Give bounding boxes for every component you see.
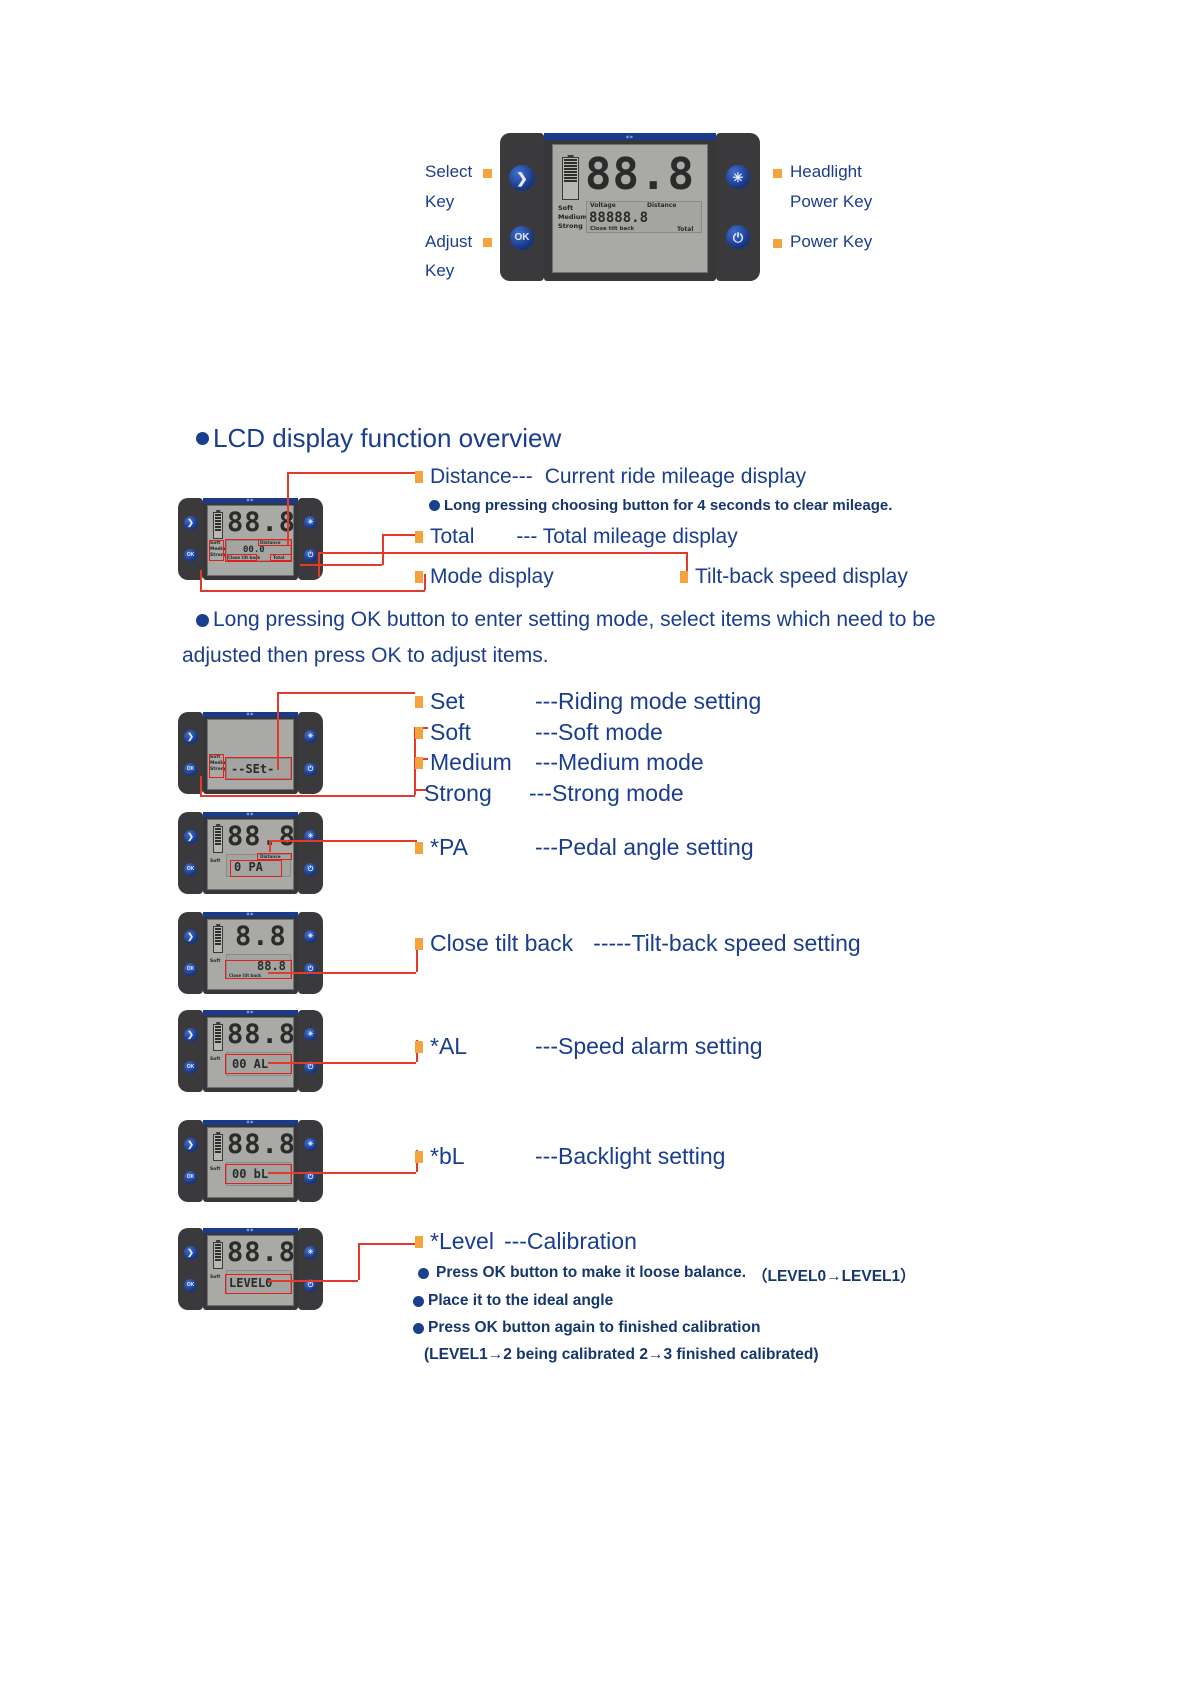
leader-tiltback-v1 bbox=[318, 552, 320, 577]
battery-icon bbox=[213, 1242, 223, 1269]
bullet-icon bbox=[415, 1041, 423, 1053]
annotation-term: Set bbox=[430, 688, 535, 715]
calibration-footer-text: (LEVEL1→2 being calibrated 2→3 finished … bbox=[424, 1346, 819, 1364]
hero-label-power-key-bottom: Power Key bbox=[790, 232, 872, 252]
mode-column: Soft bbox=[210, 959, 220, 965]
section-title-lcd-overview: LCD display function overview bbox=[196, 423, 561, 454]
power-key-button[interactable]: ⏻ bbox=[726, 225, 750, 249]
mode-column: Soft bbox=[210, 1167, 220, 1173]
level-device: ❯ OK ◉▶ 88.8 Soft LEVEL0 ✳ ⏻ bbox=[178, 1228, 323, 1310]
bullet-icon bbox=[413, 1323, 424, 1334]
lcd-screen: 88.8 Soft 00 bL bbox=[207, 1127, 294, 1198]
annotation-desc: ---Strong mode bbox=[529, 780, 684, 807]
overview-left-bezel: ❯ OK bbox=[178, 498, 203, 580]
bullet-icon bbox=[196, 614, 209, 627]
bullet-icon bbox=[680, 571, 688, 583]
calibration-step-text: Press OK button again to finished calibr… bbox=[428, 1319, 760, 1337]
annotation-total: Total --- Total mileage display bbox=[415, 525, 738, 549]
screen-bezel: ◉▶ 88.8 Soft 00 AL bbox=[203, 1010, 298, 1092]
bullet-icon bbox=[415, 1236, 423, 1248]
battery-icon bbox=[213, 1134, 223, 1161]
annotation-close-tilt-back: Close tilt back -----Tilt-back speed set… bbox=[415, 930, 861, 957]
hero-label-select-key-line1: Select bbox=[425, 162, 472, 182]
bullet-icon bbox=[413, 1296, 424, 1307]
hero-bullet-select bbox=[483, 169, 492, 178]
annotation-pa: *PA ---Pedal angle setting bbox=[415, 834, 754, 861]
screen-bezel: ◉▶ 88.8 Soft LEVEL0 bbox=[203, 1228, 298, 1310]
hero-bullet-power bbox=[773, 239, 782, 248]
mode-label-soft: Soft bbox=[210, 959, 220, 965]
bullet-icon bbox=[415, 1151, 423, 1163]
battery-icon bbox=[213, 1024, 223, 1051]
leader-set-v bbox=[277, 692, 279, 770]
label-close-tilt-back: Close tilt back bbox=[229, 974, 261, 978]
annotation-desc: ---Riding mode setting bbox=[535, 688, 761, 715]
headlight-key-button[interactable]: ✳ bbox=[304, 1246, 317, 1259]
screen-bezel: ◉▶ 8.8 Soft 88.8 Close tilt back bbox=[203, 912, 298, 994]
headlight-key-button[interactable]: ✳ bbox=[726, 165, 750, 189]
leader-distance-v bbox=[287, 472, 289, 545]
screen-bezel: ◉▶ 88.8 Soft 00 bL bbox=[203, 1120, 298, 1202]
annotation-desc: -----Tilt-back speed setting bbox=[593, 930, 861, 957]
main-digits: 88.8 bbox=[227, 1021, 296, 1048]
headlight-key-button[interactable]: ✳ bbox=[304, 730, 317, 743]
bullet-icon bbox=[415, 471, 423, 483]
mode-label-medium: Medium bbox=[558, 213, 587, 222]
leader-tiltback-h bbox=[318, 552, 686, 554]
annotation-desc: --- Total mileage display bbox=[516, 525, 737, 549]
overview-screen-bezel: ◉▶ 88.8 Soft Medium Strong Distance 00.0… bbox=[203, 498, 298, 580]
select-key-button[interactable]: ❯ bbox=[184, 1028, 198, 1042]
annotation-term: Soft bbox=[430, 719, 535, 746]
left-bezel: ❯ OK bbox=[178, 912, 203, 994]
annotation-term: *AL bbox=[430, 1033, 535, 1060]
ok-key-button[interactable]: OK bbox=[184, 763, 197, 776]
sub-panel: Distance 0 PA bbox=[226, 854, 291, 877]
logo-bar: ◉▶ bbox=[203, 812, 298, 817]
leader-al-h bbox=[268, 1062, 416, 1064]
leader-level-h1 bbox=[268, 1280, 358, 1282]
power-key-button[interactable]: ⏻ bbox=[304, 549, 317, 562]
hero-logo-bar: ◉▶ bbox=[544, 133, 716, 140]
mode-label-soft: Soft bbox=[210, 1057, 220, 1063]
leader-modes-v1 bbox=[200, 776, 202, 795]
ok-key-button[interactable]: OK bbox=[184, 1279, 197, 1292]
main-digits: 88.8 bbox=[227, 1131, 296, 1158]
ok-key-button[interactable]: OK bbox=[184, 549, 197, 562]
headlight-key-button[interactable]: ✳ bbox=[304, 930, 317, 943]
hero-screen-bezel: ◉▶ 88.8 Soft Medium Strong Voltage Dista… bbox=[544, 133, 716, 281]
hero-label-adjust-key-line2: Key bbox=[425, 261, 454, 281]
calibration-step-1: Press OK button to make it loose balance… bbox=[418, 1264, 746, 1282]
leader-tiltback2-h bbox=[268, 972, 416, 974]
left-bezel: ❯ OK bbox=[178, 812, 203, 894]
battery-icon bbox=[213, 512, 223, 539]
bl-lcd-value: 00 bL bbox=[232, 1168, 268, 1180]
bullet-icon bbox=[415, 571, 423, 583]
annotation-term: *PA bbox=[430, 834, 535, 861]
leader-mode-h bbox=[200, 590, 425, 592]
logo-bar: ◉▶ bbox=[203, 912, 298, 917]
overview-label-total: Total bbox=[273, 556, 284, 560]
annotation-term: Strong bbox=[424, 780, 529, 807]
hero-bullet-headlight bbox=[773, 169, 782, 178]
hero-label-voltage: Voltage bbox=[590, 203, 616, 209]
headlight-key-button[interactable]: ✳ bbox=[304, 1138, 317, 1151]
sub-panel: --SEt- bbox=[226, 758, 291, 779]
leader-level-v bbox=[358, 1243, 360, 1280]
power-key-button[interactable]: ⏻ bbox=[304, 863, 317, 876]
hero-left-bezel: ❯ OK bbox=[500, 133, 544, 281]
headlight-key-button[interactable]: ✳ bbox=[304, 1028, 317, 1041]
annotation-desc: ---Pedal angle setting bbox=[535, 834, 754, 861]
annotation-desc: ---Soft mode bbox=[535, 719, 663, 746]
overview-label-close-tilt-back: Close tilt back bbox=[228, 556, 260, 560]
calibration-level-annotation: （LEVEL0→LEVEL1） bbox=[752, 1264, 916, 1286]
annotation-level: *Level ---Calibration bbox=[415, 1228, 637, 1255]
left-bezel: ❯ OK bbox=[178, 1228, 203, 1310]
al-lcd-value: 00 AL bbox=[232, 1058, 268, 1070]
right-bezel: ✳ ⏻ bbox=[298, 1228, 323, 1310]
left-bezel: ❯ OK bbox=[178, 1010, 203, 1092]
main-digits: 88.8 bbox=[227, 823, 296, 850]
overview-device: ❯ OK ◉▶ 88.8 Soft Medium Strong Distance… bbox=[178, 498, 323, 580]
headlight-key-button[interactable]: ✳ bbox=[304, 516, 317, 529]
main-digits: 8.8 bbox=[235, 923, 287, 950]
set-lcd-value: --SEt- bbox=[231, 763, 274, 775]
battery-icon bbox=[213, 926, 223, 953]
sub-panel: LEVEL0 bbox=[226, 1270, 291, 1294]
hero-main-digits: 88.8 bbox=[585, 153, 695, 197]
hero-label-adjust-key-line1: Adjust bbox=[425, 232, 472, 252]
ok-key-button[interactable]: OK bbox=[184, 1171, 197, 1184]
left-bezel: ❯ OK bbox=[178, 1120, 203, 1202]
annotation-desc: Current ride mileage display bbox=[545, 465, 806, 489]
bullet-icon bbox=[415, 696, 423, 708]
sub-panel: 00 AL bbox=[226, 1052, 291, 1076]
leader-pa-h bbox=[269, 840, 417, 842]
annotation-term: Mode display bbox=[430, 565, 554, 589]
pa-lcd-value: 0 PA bbox=[234, 861, 263, 873]
calibration-step-2: Place it to the ideal angle bbox=[413, 1292, 613, 1310]
logo-bar: ◉▶ bbox=[203, 1228, 298, 1233]
select-key-button[interactable]: ❯ bbox=[184, 1246, 198, 1260]
annotation-term: Distance--- bbox=[430, 465, 533, 489]
annotation-desc: ---Speed alarm setting bbox=[535, 1033, 763, 1060]
mode-label-soft: Soft bbox=[558, 204, 587, 213]
overview-sub-panel: Distance 00.0 Close tilt back Total bbox=[226, 540, 291, 561]
hero-label-headlight: Headlight bbox=[790, 162, 862, 182]
calibration-step-text: Place it to the ideal angle bbox=[428, 1292, 613, 1310]
ok-key-button[interactable]: OK bbox=[184, 863, 197, 876]
annotation-desc: ---Medium mode bbox=[535, 749, 704, 776]
paragraph-long-press-line2: adjusted then press OK to adjust items. bbox=[182, 644, 549, 668]
leader-pa-v bbox=[269, 840, 271, 852]
mode-label-soft: Soft bbox=[210, 859, 220, 865]
hero-bullet-adjust bbox=[483, 238, 492, 247]
select-key-button[interactable]: ❯ bbox=[184, 730, 198, 744]
hero-label-select-key-line2: Key bbox=[425, 192, 454, 212]
main-digits: 88.8 bbox=[227, 1239, 296, 1266]
hero-label-distance: Distance bbox=[647, 203, 676, 209]
power-key-button[interactable]: ⏻ bbox=[304, 963, 317, 976]
select-key-button[interactable]: ❯ bbox=[184, 516, 198, 530]
right-bezel: ✳ ⏻ bbox=[298, 812, 323, 894]
logo-bar: ◉▶ bbox=[203, 712, 298, 717]
annotation-desc: ---Calibration bbox=[504, 1228, 637, 1255]
hero-label-power-key-top: Power Key bbox=[790, 192, 872, 212]
hero-mode-column: Soft Medium Strong bbox=[558, 204, 587, 230]
annotation-term: Close tilt back bbox=[430, 930, 573, 957]
paragraph-long-press-line1: Long pressing OK button to enter setting… bbox=[196, 608, 936, 632]
hero-label-total: Total bbox=[677, 227, 693, 233]
annotation-strong: Strong ---Strong mode bbox=[424, 780, 684, 807]
lcd-screen: 8.8 Soft 88.8 Close tilt back bbox=[207, 919, 294, 990]
mode-column: Soft bbox=[210, 859, 220, 865]
heading-bullet bbox=[196, 432, 209, 445]
note-clear-mileage: Long pressing choosing button for 4 seco… bbox=[429, 497, 892, 514]
leader-bl-h bbox=[268, 1172, 416, 1174]
sub-panel: 00 bL bbox=[226, 1162, 291, 1186]
label-distance: Distance bbox=[260, 855, 281, 859]
annotation-distance: Distance--- Current ride mileage display bbox=[415, 465, 806, 489]
annotation-tiltback-speed: Tilt-back speed display bbox=[680, 565, 908, 589]
annotation-bl: *bL ---Backlight setting bbox=[415, 1143, 725, 1170]
annotation-term: Tilt-back speed display bbox=[695, 565, 908, 589]
select-key-button[interactable]: ❯ bbox=[184, 930, 198, 944]
leader-level-h2 bbox=[358, 1243, 416, 1245]
calibration-annotation-text: （LEVEL0→LEVEL1） bbox=[752, 1264, 916, 1286]
level-lcd-value: LEVEL0 bbox=[229, 1277, 272, 1289]
annotation-set: Set ---Riding mode setting bbox=[415, 688, 761, 715]
calibration-step-text: Press OK button to make it loose balance… bbox=[436, 1264, 746, 1282]
annotation-term: Medium bbox=[430, 749, 535, 776]
overview-sub-digits: 00.0 bbox=[243, 546, 265, 555]
ok-key-button[interactable]: OK bbox=[184, 1061, 197, 1074]
mode-label-strong: Strong bbox=[558, 222, 587, 231]
annotation-desc: ---Backlight setting bbox=[535, 1143, 725, 1170]
sub-panel: 88.8 Close tilt back bbox=[226, 954, 291, 979]
annotation-medium: Medium ---Medium mode bbox=[415, 749, 704, 776]
right-bezel: ✳ ⏻ bbox=[298, 712, 323, 794]
hero-right-bezel: ✳ ⏻ bbox=[716, 133, 760, 281]
leader-total-v bbox=[382, 534, 384, 565]
calibration-footer: (LEVEL1→2 being calibrated 2→3 finished … bbox=[424, 1346, 819, 1364]
bullet-icon bbox=[429, 500, 440, 511]
leader-distance-h bbox=[287, 472, 415, 474]
power-key-button[interactable]: ⏻ bbox=[304, 763, 317, 776]
annotation-soft: Soft ---Soft mode bbox=[415, 719, 663, 746]
battery-icon bbox=[562, 157, 579, 200]
ok-key-button[interactable]: OK bbox=[510, 226, 534, 250]
bullet-icon bbox=[415, 938, 423, 950]
tiltback-lcd-value: 88.8 bbox=[257, 960, 286, 972]
logo-bar: ◉▶ bbox=[203, 1120, 298, 1125]
overview-main-digits: 88.8 bbox=[227, 509, 296, 536]
hero-sub-digits: 88888.8 bbox=[589, 211, 648, 225]
tiltback-device: ❯ OK ◉▶ 8.8 Soft 88.8 Close tilt back ✳ … bbox=[178, 912, 323, 994]
paragraph-text-1: Long pressing OK button to enter setting… bbox=[213, 608, 936, 632]
right-bezel: ✳ ⏻ bbox=[298, 1120, 323, 1202]
battery-icon bbox=[213, 826, 223, 853]
bullet-icon bbox=[415, 531, 423, 543]
annotation-term: *Level bbox=[430, 1228, 494, 1255]
calibration-step-3: Press OK button again to finished calibr… bbox=[413, 1319, 760, 1337]
mode-label-soft: Soft bbox=[210, 1275, 220, 1281]
logo-bar: ◉▶ bbox=[203, 1010, 298, 1015]
hero-lcd-screen: 88.8 Soft Medium Strong Voltage Distance… bbox=[552, 144, 708, 273]
pa-device: ❯ OK ◉▶ 88.8 Soft Distance 0 PA ✳ ⏻ bbox=[178, 812, 323, 894]
leader-mode-v bbox=[200, 570, 202, 590]
lcd-screen: 88.8 Soft LEVEL0 bbox=[207, 1235, 294, 1306]
lcd-screen: 88.8 Soft 00 AL bbox=[207, 1017, 294, 1088]
leader-total-h bbox=[382, 534, 415, 536]
annotation-term: *bL bbox=[430, 1143, 535, 1170]
lcd-screen: 88.8 Soft Distance 0 PA bbox=[207, 819, 294, 890]
lcd-screen: Soft Medium Strong --SEt- bbox=[207, 719, 294, 790]
hero-device: ❯ OK ◉▶ 88.8 Soft Medium Strong bbox=[500, 133, 760, 281]
mode-column: Soft bbox=[210, 1275, 220, 1281]
annotation-al: *AL ---Speed alarm setting bbox=[415, 1033, 763, 1060]
leader-modes-h bbox=[200, 795, 415, 797]
bl-device: ❯ OK ◉▶ 88.8 Soft 00 bL ✳ ⏻ bbox=[178, 1120, 323, 1202]
bullet-icon bbox=[415, 727, 423, 739]
al-device: ❯ OK ◉▶ 88.8 Soft 00 AL ✳ ⏻ bbox=[178, 1010, 323, 1092]
screen-bezel: ◉▶ 88.8 Soft Distance 0 PA bbox=[203, 812, 298, 894]
section-title-text: LCD display function overview bbox=[213, 423, 561, 454]
bullet-icon bbox=[418, 1268, 429, 1279]
bullet-icon bbox=[415, 842, 423, 854]
hero-label-close-tilt-back: Close tilt back bbox=[590, 227, 634, 233]
select-key-button[interactable]: ❯ bbox=[184, 830, 198, 844]
leader-set-h bbox=[277, 692, 415, 694]
overview-lcd-screen: 88.8 Soft Medium Strong Distance 00.0 Cl… bbox=[207, 505, 294, 576]
overview-logo-bar: ◉▶ bbox=[203, 498, 298, 503]
bullet-icon bbox=[415, 757, 423, 769]
screen-bezel: ◉▶ Soft Medium Strong --SEt- bbox=[203, 712, 298, 794]
hero-sub-panel: Voltage Distance 88888.8 Close tilt back… bbox=[586, 201, 702, 233]
annotation-mode-display: Mode display bbox=[415, 565, 554, 589]
mode-column: Soft bbox=[210, 1057, 220, 1063]
mode-label-soft: Soft bbox=[210, 1167, 220, 1173]
select-key-button[interactable]: ❯ bbox=[509, 165, 535, 191]
ok-key-button[interactable]: OK bbox=[184, 963, 197, 976]
right-bezel: ✳ ⏻ bbox=[298, 1010, 323, 1092]
select-key-button[interactable]: ❯ bbox=[184, 1138, 198, 1152]
leader-total-h2 bbox=[300, 564, 382, 566]
note-text: Long pressing choosing button for 4 seco… bbox=[444, 497, 892, 514]
annotation-term: Total bbox=[430, 525, 474, 549]
right-bezel: ✳ ⏻ bbox=[298, 912, 323, 994]
